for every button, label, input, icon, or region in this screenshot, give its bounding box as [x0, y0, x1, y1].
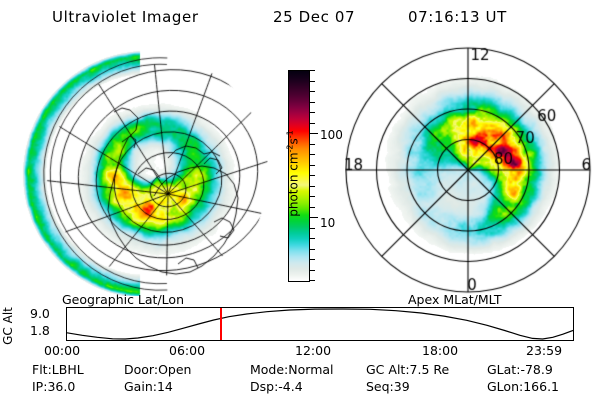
strip-x-label-4: 23:59 — [526, 343, 562, 358]
status-row1-field-1: Door: Open — [124, 362, 158, 377]
strip-x-label-2: 12:00 — [295, 343, 331, 358]
colorbar-title-exponent-2: -1 — [286, 130, 295, 138]
status-label: GLat: — [487, 362, 520, 377]
status-value: 166.1 — [523, 379, 559, 394]
status-value: 14 — [157, 379, 173, 394]
header-bar: Ultraviolet Imager 25 Dec 07 07:16:13 UT — [0, 8, 600, 30]
status-value: Normal — [288, 362, 333, 377]
strip-x-label-3: 18:00 — [422, 343, 458, 358]
colorbar-title-main: photon cm — [287, 152, 301, 216]
status-label: Mode: — [250, 362, 288, 377]
status-value: Open — [158, 362, 191, 377]
apex-aurora-dial[interactable] — [345, 46, 593, 296]
strip-x-axis-labels: 00:0006:0012:0018:0023:59 — [0, 343, 600, 359]
geographic-panel[interactable] — [18, 46, 268, 296]
colorbar-tick-label-0: 100 — [320, 128, 343, 142]
colorbar-ticks — [310, 70, 318, 282]
status-label: GLon: — [487, 379, 523, 394]
altitude-curve — [67, 308, 573, 340]
status-row2-field-0: IP: 36.0 — [32, 379, 47, 394]
status-label: Gain: — [124, 379, 157, 394]
colorbar: 10010 photon cm-2s-1 — [270, 60, 342, 295]
time-cursor[interactable] — [220, 308, 222, 340]
strip-plot-area[interactable] — [66, 307, 574, 341]
status-row1-field-0: Flt: LBHL — [32, 362, 52, 377]
colorbar-title-exponent-1: -2 — [286, 144, 295, 152]
status-value: 36.0 — [47, 379, 75, 394]
orbit-altitude-strip[interactable]: GC Alt 9.0 1.8 00:0006:0012:0018:0023:59 — [0, 305, 600, 357]
status-row1-field-2: Mode: Normal — [250, 362, 288, 377]
strip-y-tick-low: 1.8 — [30, 323, 50, 338]
instrument-title: Ultraviolet Imager — [52, 8, 199, 26]
status-row2-field-2: Dsp: -4.4 — [250, 379, 278, 394]
status-value: -78.9 — [520, 362, 552, 377]
colorbar-title-mid: s — [287, 138, 301, 144]
geographic-aurora-image[interactable] — [18, 46, 268, 296]
status-label: Seq: — [366, 379, 394, 394]
strip-y-axis-label: GC Alt — [1, 304, 15, 348]
status-row2-field-1: Gain: 14 — [124, 379, 157, 394]
colorbar-axis-title: photon cm-2s-1 — [286, 99, 301, 249]
status-value: 7.5 Re — [410, 362, 450, 377]
status-label: GC Alt: — [366, 362, 410, 377]
strip-x-label-0: 00:00 — [44, 343, 80, 358]
status-row2-field-3: Seq: 39 — [366, 379, 394, 394]
status-label: Door: — [124, 362, 158, 377]
observation-date: 25 Dec 07 — [273, 8, 355, 26]
status-footer: Flt: LBHLDoor: OpenMode: NormalGC Alt: 7… — [0, 362, 600, 398]
observation-time: 07:16:13 UT — [408, 8, 507, 26]
status-value: -4.4 — [278, 379, 302, 394]
status-row2-field-4: GLon: 166.1 — [487, 379, 523, 394]
strip-x-label-1: 06:00 — [169, 343, 205, 358]
status-value: LBHL — [52, 362, 84, 377]
status-row1-field-3: GC Alt: 7.5 Re — [366, 362, 410, 377]
status-row1-field-4: GLat: -78.9 — [487, 362, 520, 377]
apex-mlt-panel[interactable] — [345, 46, 593, 296]
colorbar-tick-label-1: 10 — [320, 216, 335, 230]
status-label: Dsp: — [250, 379, 278, 394]
status-value: 39 — [394, 379, 410, 394]
status-label: IP: — [32, 379, 47, 394]
status-label: Flt: — [32, 362, 52, 377]
strip-y-tick-high: 9.0 — [30, 306, 50, 321]
uvi-display: Ultraviolet Imager 25 Dec 07 07:16:13 UT… — [0, 0, 600, 400]
